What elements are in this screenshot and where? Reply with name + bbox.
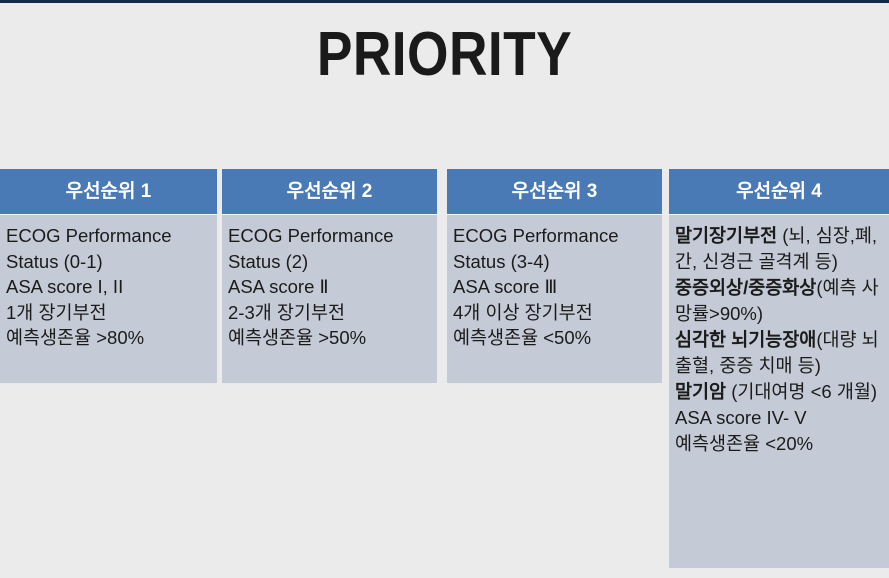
criteria-entry-detail: ASA score IV- V [675, 407, 807, 428]
criteria-line: ECOG Performance [453, 223, 656, 249]
criteria-line: ASA score Ⅱ [228, 274, 431, 300]
criteria-line: Status (3-4) [453, 249, 656, 275]
criteria-entry: ASA score IV- V [675, 405, 883, 431]
criteria-entry-term: 중증외상/중증화상 [675, 277, 816, 298]
page-title: PRIORITY [62, 22, 827, 87]
criteria-line: 2-3개 장기부전 [228, 300, 431, 326]
priority-column-1-header: 우선순위 1 [0, 169, 217, 214]
priority-column-4-header: 우선순위 4 [669, 169, 889, 214]
priority-column-4: 우선순위 4 말기장기부전 (뇌, 심장,폐, 간, 신경근 골격계 등) 중증… [669, 169, 889, 568]
criteria-line: 4개 이상 장기부전 [453, 300, 656, 326]
criteria-entry-term: 심각한 뇌기능장애 [675, 329, 816, 350]
criteria-line: ECOG Performance [6, 223, 211, 249]
priority-column-3: 우선순위 3 ECOG Performance Status (3-4) ASA… [447, 169, 662, 383]
criteria-entry: 중증외상/중증화상(예측 사망률>90%) [675, 275, 883, 327]
criteria-entry: 말기암 (기대여명 <6 개월) [675, 379, 883, 405]
criteria-entry: 예측생존율 <20% [675, 431, 883, 457]
criteria-entry-term: 말기장기부전 [675, 225, 777, 246]
priority-column-3-header: 우선순위 3 [447, 169, 662, 214]
criteria-entry-term: 말기암 [675, 381, 726, 402]
priority-column-2-body: ECOG Performance Status (2) ASA score Ⅱ … [222, 215, 437, 383]
criteria-line: ECOG Performance [228, 223, 431, 249]
criteria-entry: 심각한 뇌기능장애(대량 뇌출혈, 중증 치매 등) [675, 327, 883, 379]
criteria-line: Status (2) [228, 249, 431, 275]
top-rule [0, 0, 889, 3]
criteria-line: 예측생존율 >80% [6, 325, 211, 351]
priority-column-2-header: 우선순위 2 [222, 169, 437, 214]
criteria-line: ASA score I, II [6, 274, 211, 300]
criteria-entry-detail: (기대여명 <6 개월) [726, 381, 877, 402]
criteria-line: Status (0-1) [6, 249, 211, 275]
criteria-line: 1개 장기부전 [6, 300, 211, 326]
criteria-line: 예측생존율 >50% [228, 325, 431, 351]
priority-column-3-body: ECOG Performance Status (3-4) ASA score … [447, 215, 662, 383]
priority-column-1: 우선순위 1 ECOG Performance Status (0-1) ASA… [0, 169, 217, 383]
criteria-line: ASA score Ⅲ [453, 274, 656, 300]
priority-column-1-body: ECOG Performance Status (0-1) ASA score … [0, 215, 217, 383]
priority-column-4-body: 말기장기부전 (뇌, 심장,폐, 간, 신경근 골격계 등) 중증외상/중증화상… [669, 215, 889, 568]
priority-column-2: 우선순위 2 ECOG Performance Status (2) ASA s… [222, 169, 437, 383]
criteria-line: 예측생존율 <50% [453, 325, 656, 351]
criteria-entry: 말기장기부전 (뇌, 심장,폐, 간, 신경근 골격계 등) [675, 223, 883, 275]
criteria-entry-detail: 예측생존율 <20% [675, 433, 813, 454]
